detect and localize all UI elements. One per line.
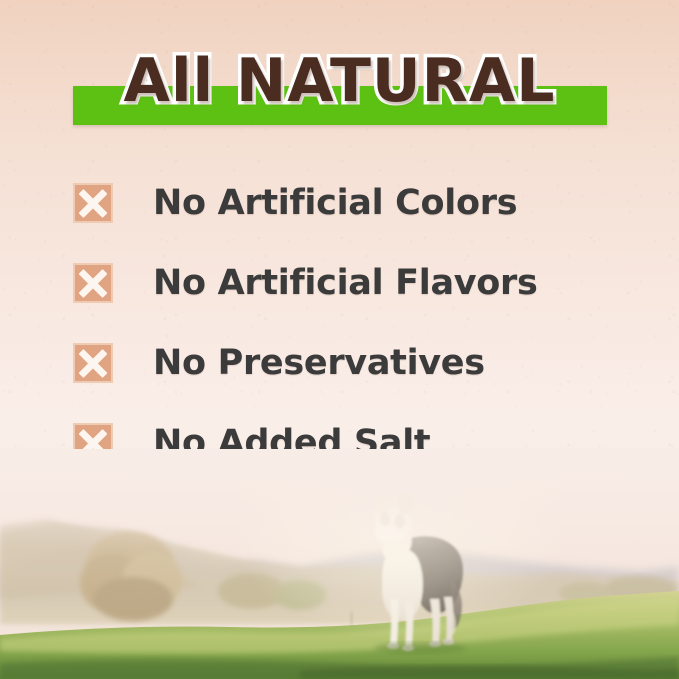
x-mark-icon bbox=[73, 343, 113, 383]
claim-label-flavors: No Artificial Flavors bbox=[153, 252, 538, 314]
headline-banner: All NATURAL bbox=[0, 42, 679, 132]
product-feature-poster: All NATURAL No Artificial Colors No Arti… bbox=[0, 0, 679, 679]
claim-label-preservatives: No Preservatives bbox=[153, 332, 485, 394]
claims-list: No Artificial Colors No Artificial Flavo… bbox=[0, 172, 679, 492]
list-item: No Artificial Colors bbox=[0, 172, 679, 252]
x-mark-icon bbox=[73, 263, 113, 303]
x-mark-icon bbox=[73, 183, 113, 223]
list-item: No Artificial Flavors bbox=[0, 252, 679, 332]
page-title: All NATURAL bbox=[0, 42, 679, 120]
list-item: No Preservatives bbox=[0, 332, 679, 412]
landscape-illustration bbox=[0, 449, 679, 679]
dog-on-hilltop-photo bbox=[0, 449, 679, 679]
claim-label-colors: No Artificial Colors bbox=[153, 172, 517, 234]
